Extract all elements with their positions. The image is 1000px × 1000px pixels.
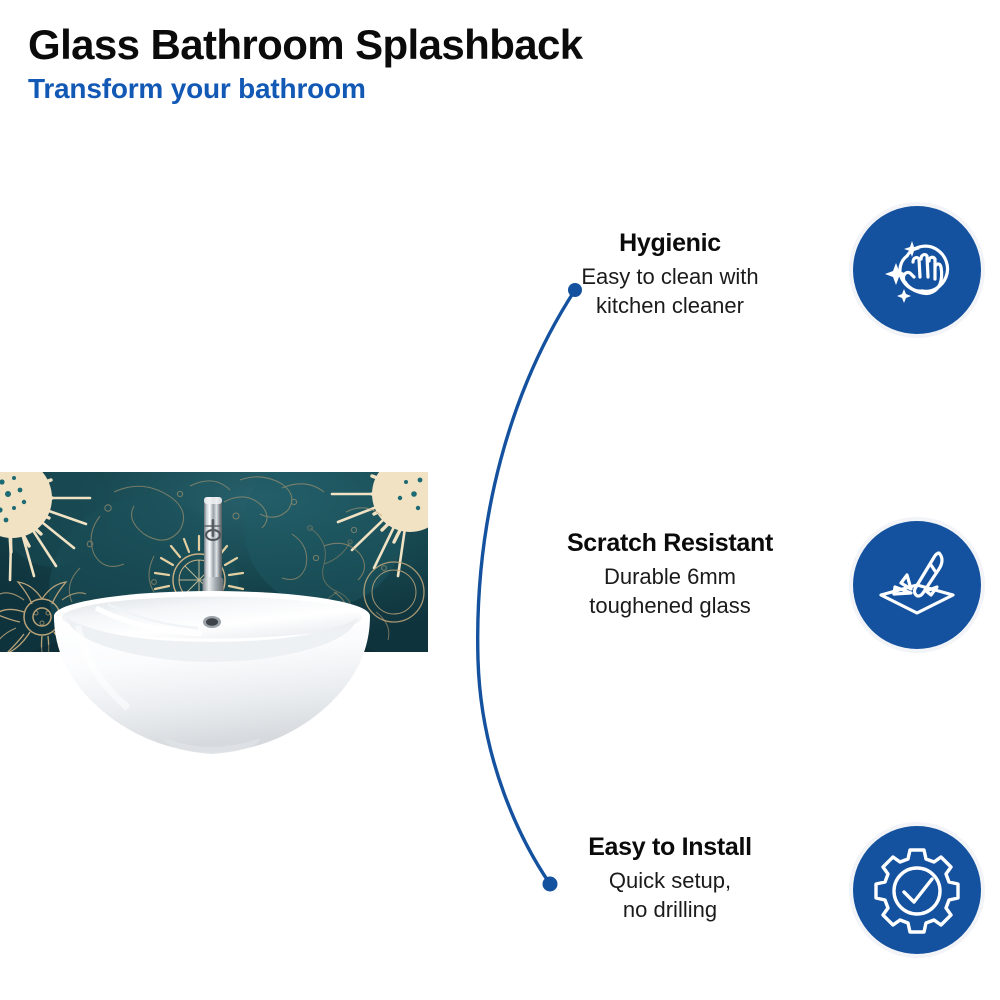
header: Glass Bathroom Splashback Transform your… bbox=[28, 22, 848, 106]
infographic-page: Glass Bathroom Splashback Transform your… bbox=[0, 0, 1000, 1000]
product-image bbox=[0, 440, 440, 780]
feature-title: Easy to Install bbox=[520, 832, 820, 862]
feature-desc-line2: no drilling bbox=[623, 897, 717, 922]
chrome-tap bbox=[198, 495, 228, 605]
feature-desc-line1: Easy to clean with bbox=[581, 264, 758, 289]
feature-desc-line2: kitchen cleaner bbox=[596, 293, 744, 318]
feature-easy-to-install: Easy to Install Quick setup, no drilling bbox=[520, 832, 820, 925]
feature-scratch-resistant: Scratch Resistant Durable 6mm toughened … bbox=[510, 528, 830, 621]
feature-title: Scratch Resistant bbox=[510, 528, 830, 558]
page-title: Glass Bathroom Splashback bbox=[28, 22, 848, 67]
feature-desc-line1: Durable 6mm bbox=[604, 564, 736, 589]
cleaning-hand-sparkle-icon bbox=[853, 206, 981, 334]
ceramic-basin bbox=[52, 590, 372, 755]
feature-hygienic: Hygienic Easy to clean with kitchen clea… bbox=[520, 228, 820, 321]
feature-desc-line2: toughened glass bbox=[589, 593, 750, 618]
gear-check-icon bbox=[853, 826, 981, 954]
feature-description: Easy to clean with kitchen cleaner bbox=[520, 262, 820, 321]
knife-scratch-surface-icon bbox=[853, 521, 981, 649]
page-subtitle: Transform your bathroom bbox=[28, 73, 848, 105]
feature-description: Durable 6mm toughened glass bbox=[510, 562, 830, 621]
feature-desc-line1: Quick setup, bbox=[609, 868, 731, 893]
feature-title: Hygienic bbox=[520, 228, 820, 258]
feature-description: Quick setup, no drilling bbox=[520, 866, 820, 925]
